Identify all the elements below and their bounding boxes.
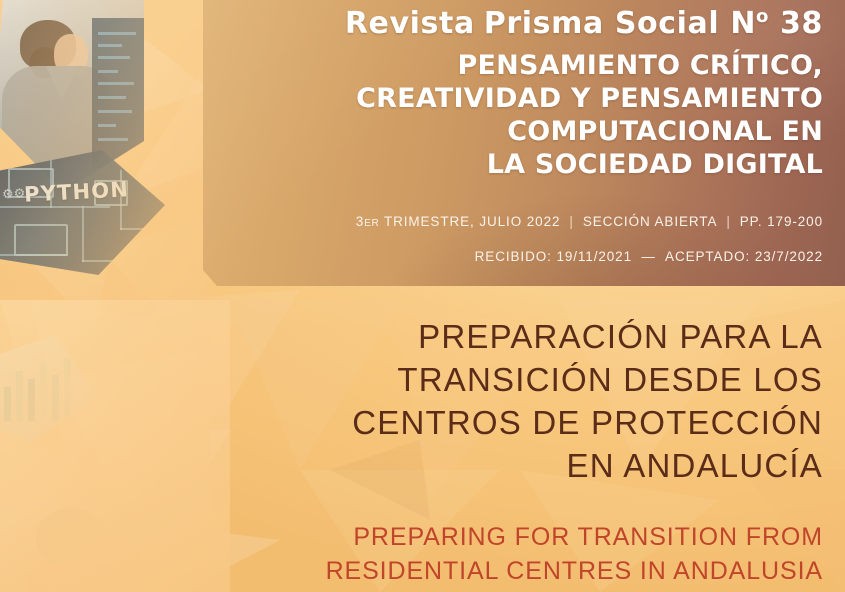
chart-bar (40, 363, 47, 421)
meta-separator: | (717, 214, 739, 229)
issue-metadata-line: 3ER TRIMESTRE, JULIO 2022|SECCIÓN ABIERT… (60, 214, 823, 229)
chart-bar (4, 387, 11, 421)
article-title-es-line-3: CENTROS DE PROTECCIÓN (150, 402, 823, 445)
student-face (54, 528, 88, 568)
article-title-en-line-2: RESIDENTIAL CENTRES IN ANDALUSIA (150, 555, 823, 589)
section-name: SECCIÓN ABIERTA (583, 214, 718, 229)
chart-bar (28, 379, 35, 421)
issue-theme-line-3: COMPUTACIONAL EN (120, 116, 823, 149)
meta-separator: | (560, 214, 582, 229)
received-date: 19/11/2021 (556, 249, 632, 264)
journal-issue-number: 38 (780, 6, 823, 41)
page-range: PP. 179-200 (740, 214, 823, 229)
article-title-es-line-2: TRANSICIÓN DESDE LOS (150, 359, 823, 402)
submission-dates-line: RECIBIDO: 19/11/2021 — ACEPTADO: 23/7/20… (60, 249, 823, 264)
article-title-spanish: PREPARACIÓN PARA LA TRANSICIÓN DESDE LOS… (150, 316, 823, 488)
journal-title: Revista Prisma Social No 38 (0, 6, 823, 41)
accepted-label: ACEPTADO: (665, 249, 750, 264)
circuit-trace (0, 254, 68, 256)
journal-issue-degree: o (756, 6, 769, 27)
journal-issue-label: N (730, 6, 756, 41)
dates-dash: — (641, 249, 655, 264)
issue-theme: PENSAMIENTO CRÍTICO, CREATIVIDAD Y PENSA… (120, 50, 823, 182)
issue-theme-line-4: LA SOCIEDAD DIGITAL (120, 149, 823, 182)
journal-title-revista: Revista (345, 6, 475, 41)
article-title-es-line-1: PREPARACIÓN PARA LA (150, 316, 823, 359)
received-label: RECIBIDO: (475, 249, 552, 264)
chart-bar (52, 375, 59, 421)
cover-page: ⚙⚙ PYTHON Revista Prisma Social No 38 PE… (0, 0, 845, 592)
chart-bar (16, 371, 23, 421)
article-title-english: PREPARING FOR TRANSITION FROM RESIDENTIA… (150, 521, 823, 588)
article-title-en-line-1: PREPARING FOR TRANSITION FROM (150, 521, 823, 555)
quarter-number: 3 (356, 214, 364, 229)
journal-title-social: Social (615, 6, 719, 41)
quarter-suffix: ER (364, 218, 379, 229)
issue-theme-line-2: CREATIVIDAD Y PENSAMIENTO (120, 83, 823, 116)
article-title-es-line-4: EN ANDALUCÍA (150, 445, 823, 488)
gears-icon: ⚙⚙ (2, 185, 26, 202)
accepted-date: 23/7/2022 (755, 249, 823, 264)
journal-title-prisma: Prisma (484, 6, 604, 41)
issue-theme-line-1: PENSAMIENTO CRÍTICO, (120, 50, 823, 83)
circuit-trace (0, 206, 110, 208)
chart-bar (64, 359, 71, 421)
quarter-rest: TRIMESTRE, JULIO 2022 (384, 214, 560, 229)
